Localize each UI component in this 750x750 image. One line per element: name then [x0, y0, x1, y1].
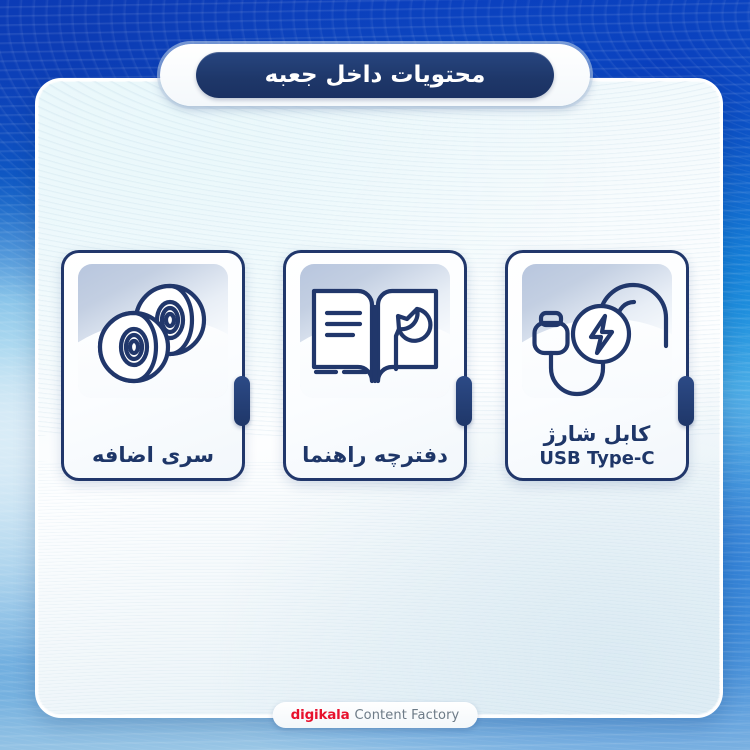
- header-pill-outer: محتویات داخل جعبه: [160, 44, 590, 106]
- box-contents-card-row: کابل شارژ USB Type-C: [0, 250, 750, 481]
- extra-eartips-icon: [78, 264, 228, 398]
- usb-c-charging-cable-icon: [522, 264, 672, 398]
- card-labels-user-manual: دفترچه راهنما: [286, 442, 464, 468]
- card-labels-charging-cable: کابل شارژ USB Type-C: [508, 421, 686, 470]
- icon-container-user-manual: [300, 264, 450, 398]
- page-title: محتویات داخل جعبه: [265, 64, 486, 87]
- card-label-fa: دفترچه راهنما: [302, 442, 448, 468]
- card-labels-extra-eartips: سری اضافه: [64, 442, 242, 468]
- icon-container-extra-eartips: [78, 264, 228, 398]
- card-accent-tab: [456, 376, 472, 426]
- card-extra-eartips[interactable]: سری اضافه: [61, 250, 245, 481]
- manual-book-wrench-icon: [300, 264, 450, 398]
- panel-wave-texture-bottom: [35, 461, 723, 718]
- icon-container-charging-cable: [522, 264, 672, 398]
- card-label-fa: سری اضافه: [92, 442, 214, 468]
- header-pill-inner: محتویات داخل جعبه: [196, 52, 554, 98]
- card-accent-tab: [678, 376, 694, 426]
- footer-brand-badge: digikala Content Factory: [273, 702, 478, 728]
- poster-canvas: محتویات داخل جعبه: [0, 0, 750, 750]
- brand-name: digikala: [291, 707, 350, 723]
- card-label-en: USB Type-C: [539, 448, 654, 470]
- brand-subtitle: Content Factory: [354, 708, 459, 723]
- card-accent-tab: [234, 376, 250, 426]
- card-user-manual[interactable]: دفترچه راهنما: [283, 250, 467, 481]
- card-charging-cable[interactable]: کابل شارژ USB Type-C: [505, 250, 689, 481]
- card-label-fa: کابل شارژ: [544, 421, 651, 447]
